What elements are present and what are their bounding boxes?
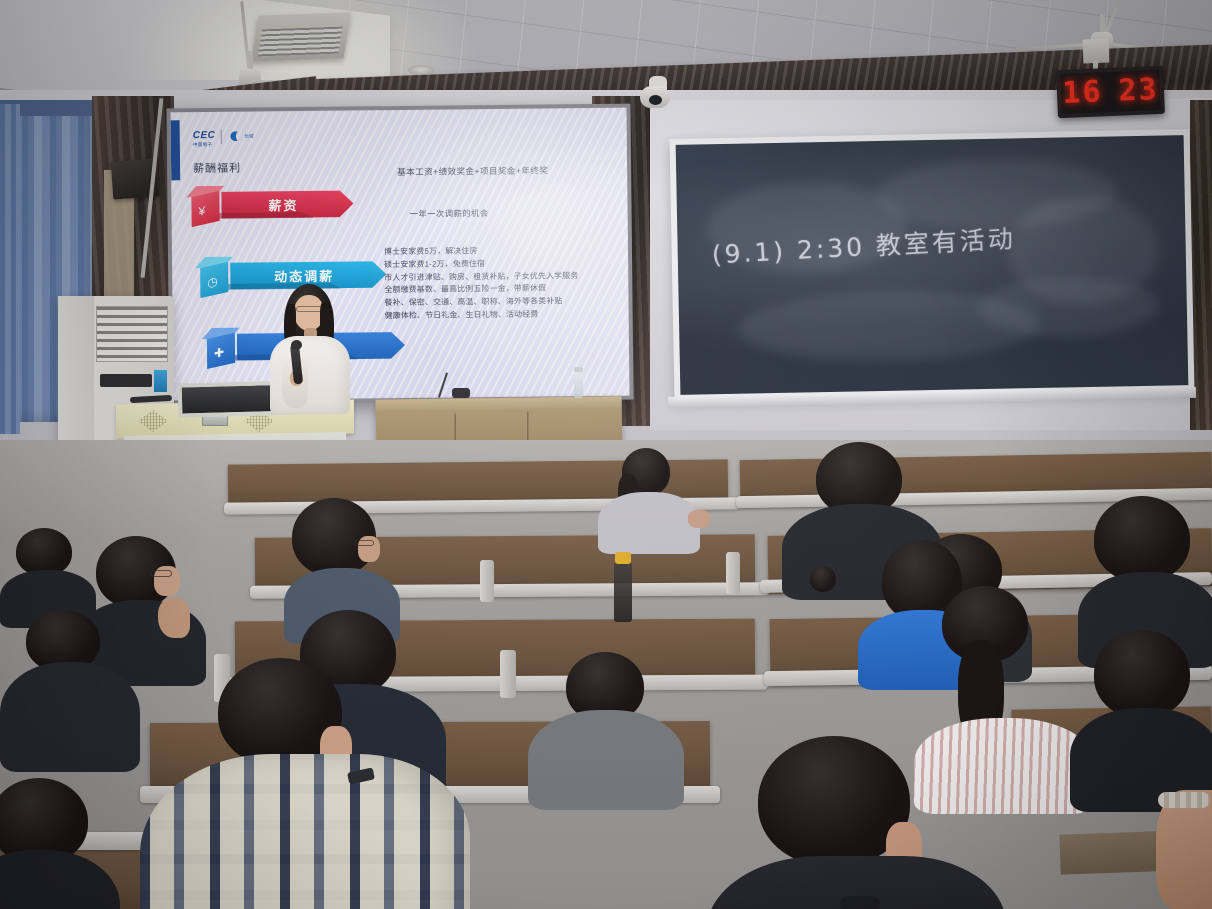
led-wall-clock: 16 23 — [1056, 66, 1165, 118]
cec-logo: CEC 中国电子 — [193, 126, 216, 148]
bench-post — [480, 560, 494, 602]
clock-hours: 16 — [1062, 77, 1103, 109]
plaid-shirt — [140, 754, 470, 909]
cec-logo-subtext: 中国电子 — [193, 143, 216, 148]
glasses-icon — [354, 540, 374, 546]
clock-minutes: 23 — [1118, 75, 1159, 107]
logo-divider — [220, 130, 221, 144]
cec-logo-text: CEC — [193, 130, 216, 141]
window-curtain-edge — [0, 104, 20, 434]
ceiling-air-vent — [251, 12, 351, 61]
glasses-icon — [296, 306, 322, 312]
slide-accent-bar — [171, 120, 181, 180]
ac-grille — [96, 306, 168, 362]
bracelet-icon — [1158, 792, 1210, 808]
desk-object — [452, 388, 470, 398]
dome-security-camera-icon — [640, 76, 674, 110]
slide-logo: CEC 中国电子 长城 — [193, 126, 254, 148]
glasses-icon — [150, 570, 172, 577]
slide-body-block: 博士安家费5万，解决住房 硕士安家费1-2万，免费住宿 市人才引进津贴、购房、租… — [384, 244, 625, 323]
ceiling-light-icon — [408, 65, 434, 75]
slide-banner-salary: ¥ 薪资 — [187, 184, 353, 224]
money-icon: ¥ — [187, 186, 223, 224]
presenter — [268, 282, 352, 412]
gift-icon: ✚ — [203, 328, 239, 366]
slide-body-line-1: 基本工资+绩效奖金+项目奖金+年终奖 — [397, 164, 623, 178]
projection-screen: CEC 中国电子 长城 薪酬福利 ¥ 薪资 — [166, 104, 633, 405]
audience-seating-area — [0, 440, 1212, 909]
presentation-slide: CEC 中国电子 长城 薪酬福利 ¥ 薪资 — [171, 108, 630, 401]
bottle-cap — [615, 552, 631, 564]
clock-icon: ◷ — [196, 257, 232, 295]
bench-post — [726, 552, 740, 594]
slide-body-text: 基本工资+绩效奖金+项目奖金+年终奖 一年一次调薪的机会 博士安家费5万，解决住… — [383, 164, 625, 323]
slide-body-line-2: 一年一次调薪的机会 — [410, 206, 624, 220]
lecture-hall-photo: CEC 中国电子 长城 薪酬福利 ¥ 薪资 — [0, 0, 1212, 909]
student-hand — [688, 510, 710, 528]
ac-display-panel — [100, 374, 152, 387]
slide-title: 薪酬福利 — [193, 160, 241, 177]
blackboard-frame: (9.1) 2:30 教室有活动 — [670, 129, 1195, 401]
water-bottle — [614, 562, 632, 622]
desk-lip — [376, 396, 622, 410]
student-hand — [158, 598, 190, 638]
wristband-icon — [840, 896, 880, 909]
secondary-logo-subtext: 长城 — [244, 133, 253, 139]
water-bottle — [574, 372, 583, 398]
ac-energy-label — [154, 370, 167, 392]
bench-post — [500, 650, 516, 698]
blackboard: (9.1) 2:30 教室有活动 — [676, 135, 1189, 395]
slide-body-item: 健康体检、节日礼金、生日礼物、活动经费 — [385, 308, 625, 323]
wave-logo-icon — [226, 130, 239, 143]
